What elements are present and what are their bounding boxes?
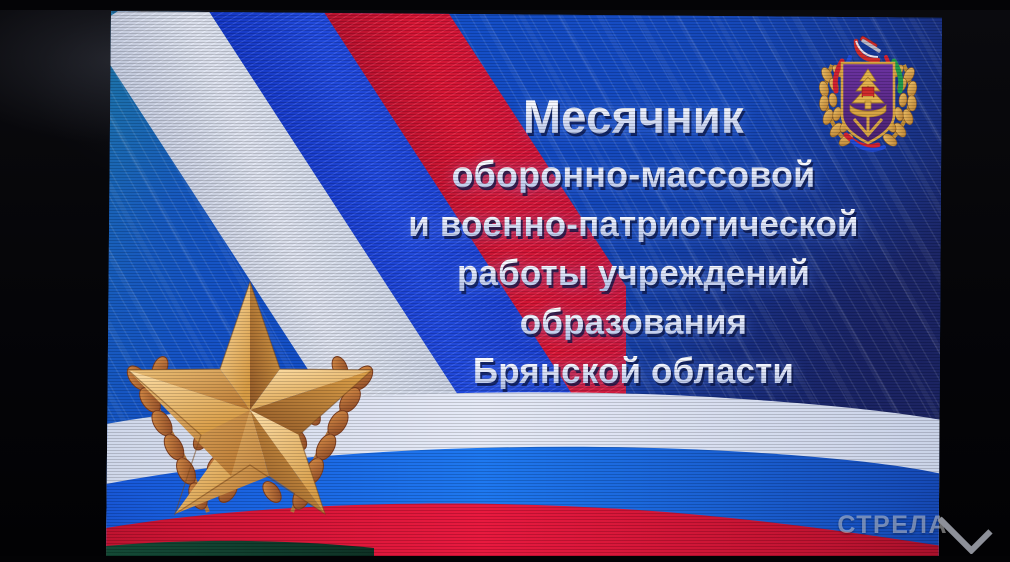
headline-line-4: работы учреждений bbox=[369, 255, 898, 291]
headline-line-2: оборонно-массовой bbox=[369, 156, 898, 193]
headline-text-block: Месячник оборонно-массовой и военно-патр… bbox=[361, 93, 906, 389]
arrow-chevron-icon bbox=[928, 506, 1002, 554]
led-presentation-screen: Месячник оборонно-массовой и военно-патр… bbox=[106, 9, 942, 562]
headline-line-5: образования bbox=[369, 304, 898, 340]
headline-line-1: Месячник bbox=[369, 93, 898, 140]
gold-star-laurel-emblem bbox=[116, 260, 384, 550]
headline-line-3: и военно-патриотической bbox=[369, 206, 898, 242]
frame-bottom-edge bbox=[0, 556, 1010, 562]
five-pointed-star bbox=[128, 282, 372, 514]
hammer-and-sickle-icon bbox=[856, 36, 881, 61]
frame-top-edge bbox=[0, 0, 1010, 10]
screenshot-stage: Месячник оборонно-массовой и военно-патр… bbox=[0, 0, 1010, 562]
headline-line-6: Брянской области bbox=[369, 353, 898, 389]
